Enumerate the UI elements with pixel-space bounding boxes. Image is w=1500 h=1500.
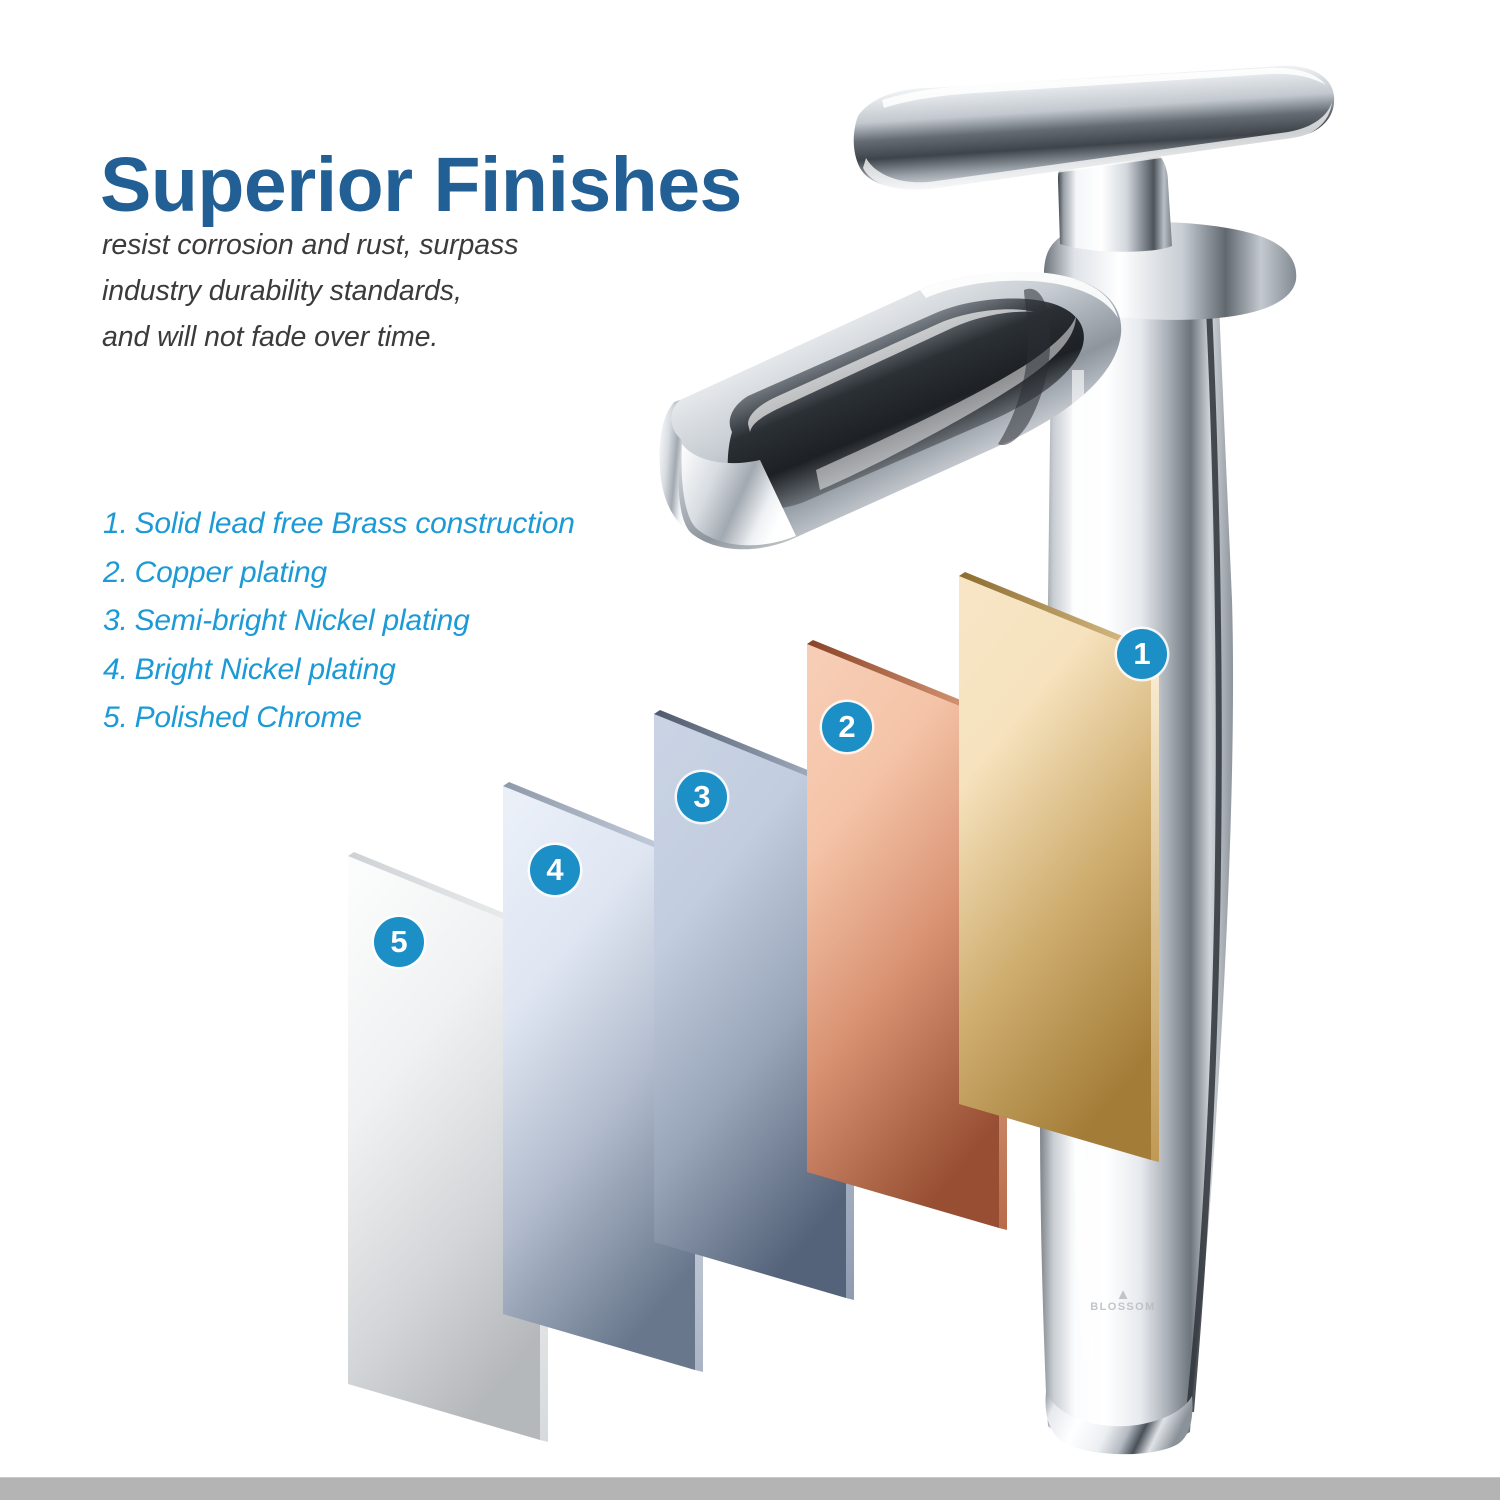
plate-badge-1[interactable]: 1 — [1117, 629, 1167, 679]
plate-badge-5[interactable]: 5 — [374, 917, 424, 967]
finish-list-item-4: 4.Bright Nickel plating — [103, 646, 743, 695]
plate-badge-4-label: 4 — [546, 854, 563, 885]
subtitle: resist corrosion and rust, surpass indus… — [102, 222, 722, 360]
finish-item-4-number: 4. — [103, 653, 128, 686]
finish-item-2-number: 2. — [103, 556, 128, 589]
plate-badge-5-label: 5 — [390, 926, 407, 957]
finish-item-5-number: 5. — [103, 701, 128, 734]
subtitle-line-2: industry durability standards, — [102, 268, 722, 314]
finish-item-1-label: Solid lead free Brass construction — [135, 507, 575, 540]
plate-badge-2-label: 2 — [838, 711, 855, 742]
plate-badge-2[interactable]: 2 — [822, 702, 872, 752]
finish-item-3-number: 3. — [103, 604, 128, 637]
plate-badge-3[interactable]: 3 — [677, 772, 727, 822]
finish-item-3-label: Semi-bright Nickel plating — [135, 604, 470, 637]
finish-item-2-label: Copper plating — [135, 556, 327, 589]
plate-badge-3-label: 3 — [693, 781, 710, 812]
plate-badge-1-label: 1 — [1133, 638, 1150, 669]
subtitle-line-1: resist corrosion and rust, surpass — [102, 222, 722, 268]
page-title: Superior Finishes — [100, 147, 742, 224]
finish-list: 1.Solid lead free Brass construction 2.C… — [103, 500, 743, 743]
infographic-canvas: ▲ BLOSSOM — [0, 0, 1500, 1500]
subtitle-line-3: and will not fade over time. — [102, 314, 722, 360]
plate-badge-4[interactable]: 4 — [530, 845, 580, 895]
finish-list-item-2: 2.Copper plating — [103, 549, 743, 598]
finish-item-1-number: 1. — [103, 507, 128, 540]
finish-item-5-label: Polished Chrome — [135, 701, 362, 734]
finish-item-4-label: Bright Nickel plating — [135, 653, 396, 686]
plate-brass[interactable] — [955, 570, 1225, 1170]
footer-bar — [0, 1477, 1500, 1500]
finish-list-item-3: 3.Semi-bright Nickel plating — [103, 597, 743, 646]
finish-list-item-5: 5.Polished Chrome — [103, 694, 743, 743]
finish-list-item-1: 1.Solid lead free Brass construction — [103, 500, 743, 549]
